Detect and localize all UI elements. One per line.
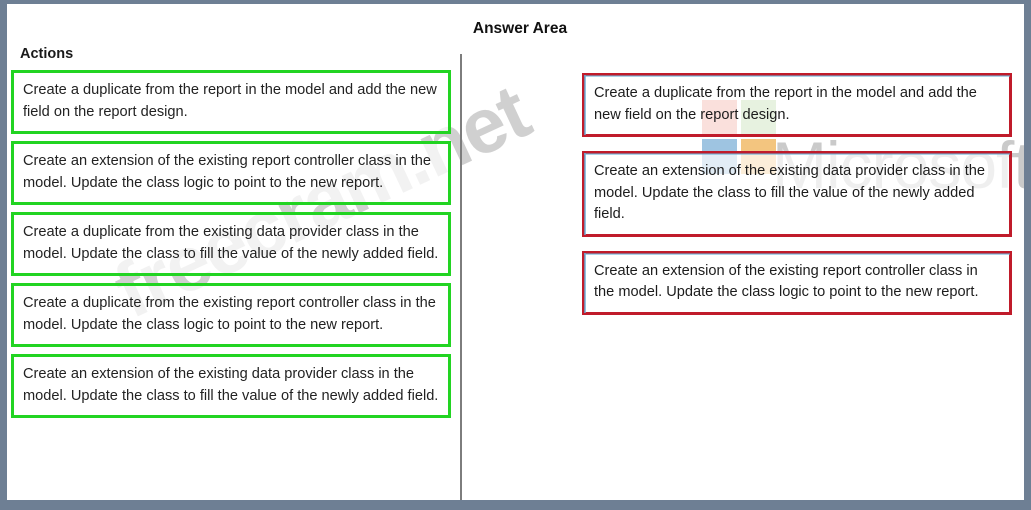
exam-question-image: freecram.net Microsoft Actions Create a … [0,0,1031,510]
answer-item[interactable]: Create an extension of the existing data… [582,151,1012,237]
question-canvas: freecram.net Microsoft Actions Create a … [0,0,1031,510]
action-item[interactable]: Create a duplicate from the existing dat… [11,212,451,276]
actions-list: Create a duplicate from the report in th… [11,70,451,425]
answer-item[interactable]: Create a duplicate from the report in th… [582,73,1012,137]
answer-area-heading: Answer Area [430,20,610,38]
answer-list: Create a duplicate from the report in th… [582,73,1012,329]
answer-item[interactable]: Create an extension of the existing repo… [582,251,1012,315]
actions-heading: Actions [20,46,73,62]
action-item[interactable]: Create a duplicate from the report in th… [11,70,451,134]
action-item[interactable]: Create a duplicate from the existing rep… [11,283,451,347]
action-item[interactable]: Create an extension of the existing data… [11,354,451,418]
panel-divider [460,54,462,500]
action-item[interactable]: Create an extension of the existing repo… [11,141,451,205]
